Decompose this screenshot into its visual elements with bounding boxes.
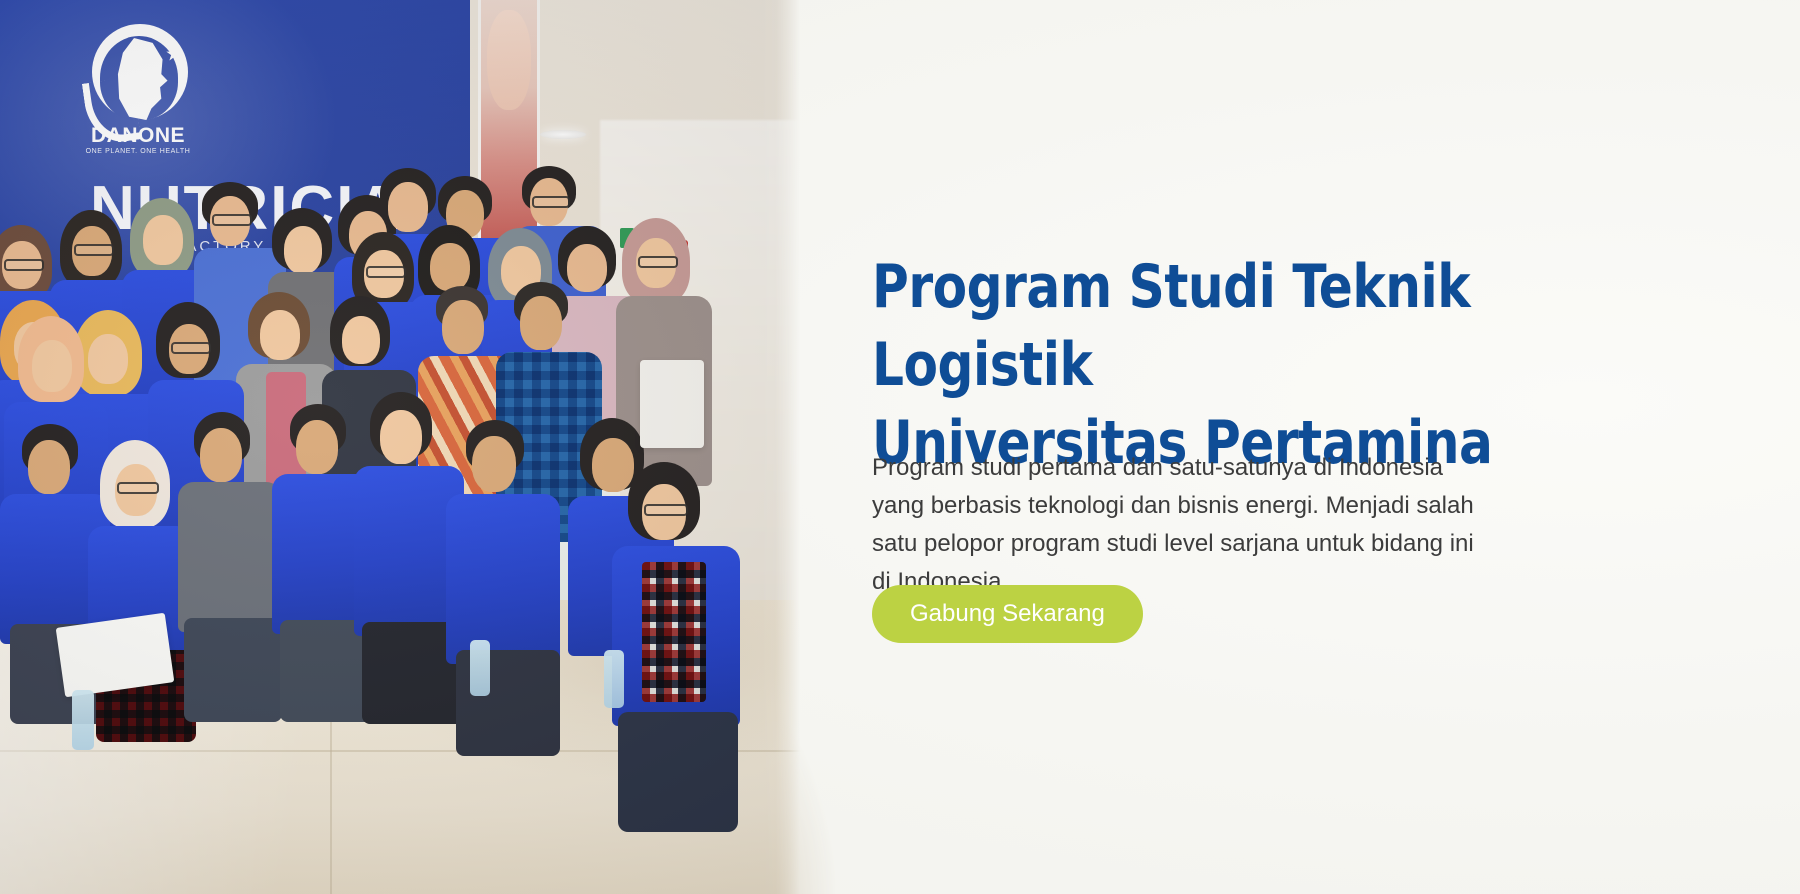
hero-photo: DANONE ONE PLANET. ONE HEALTH NUTRICIA F… [0,0,905,894]
swoosh-icon [82,77,141,146]
water-bottle [470,640,490,696]
hero-content: Program Studi Teknik Logistik Universita… [872,0,1632,894]
page-title: Program Studi Teknik Logistik Universita… [872,248,1560,482]
join-now-button[interactable]: Gabung Sekarang [872,585,1143,643]
danone-tagline: ONE PLANET. ONE HEALTH [78,148,198,155]
moon-cutout [100,36,178,120]
ceiling-lamp-icon [540,130,586,139]
danone-wordmark: DANONE [78,124,198,148]
tote-bag [640,360,704,448]
hero-description: Program studi pertama dan satu-satunya d… [872,449,1502,601]
water-bottle [604,650,624,708]
hero-banner: DANONE ONE PLANET. ONE HEALTH NUTRICIA F… [0,0,1800,894]
moon-shape-icon [92,24,188,120]
poster-portrait [487,10,531,110]
star-icon [166,46,182,62]
water-bottle [72,690,94,750]
danone-logo: DANONE ONE PLANET. ONE HEALTH [78,24,198,164]
child-silhouette-icon [108,38,170,120]
